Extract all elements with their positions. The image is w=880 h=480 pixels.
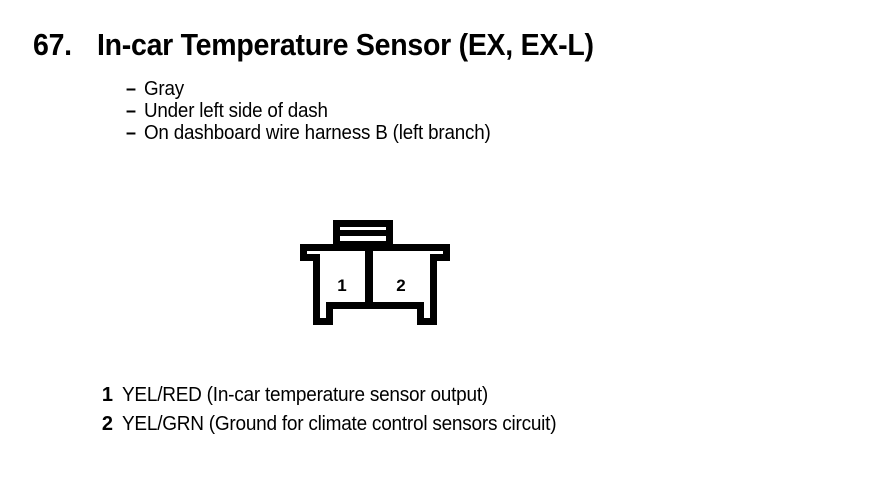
dash-icon: –	[126, 122, 142, 144]
dash-icon: –	[126, 78, 142, 100]
description-text: Gray	[144, 78, 184, 100]
item-number: 67.	[33, 27, 72, 63]
connector-diagram-page: 67. In-car Temperature Sensor (EX, EX-L)…	[0, 0, 880, 480]
latch-tab-bottom	[333, 241, 393, 248]
housing-left-wall	[313, 254, 320, 325]
housing-left-foot-inner	[326, 302, 333, 325]
latch-tab-slot-divider	[333, 230, 393, 236]
legend-pin-description: YEL/GRN (Ground for climate control sens…	[122, 410, 556, 439]
list-item: – Under left side of dash	[126, 100, 746, 122]
description-text: On dashboard wire harness B (left branch…	[144, 122, 491, 144]
list-item: – Gray	[126, 78, 746, 100]
legend-pin-number: 1	[95, 381, 113, 410]
dash-icon: –	[126, 100, 142, 122]
housing-right-foot-inner	[417, 302, 424, 325]
cavity-number-1: 1	[337, 276, 346, 295]
description-text: Under left side of dash	[144, 100, 328, 122]
page-title: 67. In-car Temperature Sensor (EX, EX-L)	[33, 27, 637, 63]
latch-tab-top	[333, 220, 393, 227]
housing-bottom-bar	[326, 302, 424, 309]
component-title: In-car Temperature Sensor (EX, EX-L)	[97, 27, 594, 63]
pin-legend: 1 YEL/RED (In-car temperature sensor out…	[95, 381, 579, 439]
cavity-number-2: 2	[396, 276, 405, 295]
legend-pin-number: 2	[95, 410, 113, 439]
description-list: – Gray – Under left side of dash – On da…	[126, 78, 746, 144]
list-item: – On dashboard wire harness B (left bran…	[126, 122, 746, 144]
legend-row: 1 YEL/RED (In-car temperature sensor out…	[95, 381, 579, 410]
connector-illustration: 1 2	[280, 205, 475, 340]
legend-row: 2 YEL/GRN (Ground for climate control se…	[95, 410, 579, 439]
legend-pin-description: YEL/RED (In-car temperature sensor outpu…	[122, 381, 488, 410]
connector-housing-outline	[300, 220, 450, 325]
housing-right-wall	[430, 254, 437, 325]
cavity-divider	[365, 244, 373, 309]
